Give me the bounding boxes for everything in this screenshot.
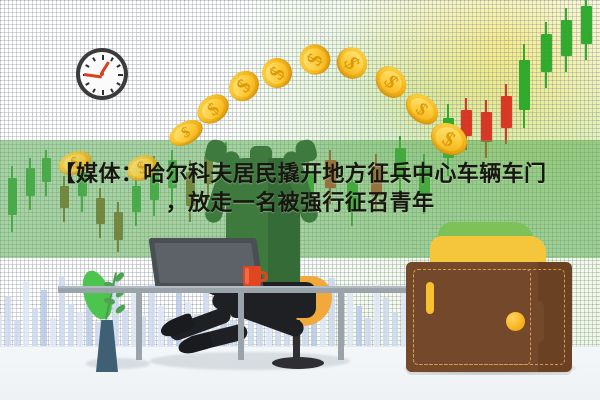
skyline-building	[32, 308, 38, 348]
skyline-building	[14, 320, 20, 348]
clock-tick	[92, 57, 95, 61]
leather-wallet	[406, 262, 572, 372]
laptop-screen-inner	[154, 243, 257, 283]
skyline-building	[365, 318, 371, 348]
skyline-building	[0, 314, 2, 348]
skyline-building	[383, 298, 389, 348]
skyline-building	[23, 282, 29, 348]
clock-tick	[118, 74, 123, 76]
headline-line-1: 【媒体：哈尔科夫居民撬开地方征兵中心车辆车门	[54, 162, 547, 187]
candlestick-body	[581, 6, 592, 44]
candlestick-body	[519, 60, 530, 110]
candlestick	[519, 44, 530, 128]
candlestick-body	[501, 96, 512, 128]
clock-tick	[92, 89, 95, 93]
candlestick-body	[541, 34, 552, 72]
skyline-building	[374, 284, 380, 348]
candlestick-body	[481, 112, 492, 142]
clock-tick	[102, 90, 104, 95]
clock-tick	[110, 57, 113, 61]
wallet-clasp-button	[506, 312, 525, 331]
clock-tick	[110, 88, 113, 92]
candlestick	[581, 0, 592, 60]
coffee-mug-highlight	[245, 268, 249, 284]
skyline-building	[392, 312, 398, 348]
candlestick	[501, 84, 512, 144]
skyline-building	[50, 318, 56, 348]
candlestick	[561, 8, 572, 72]
skyline-building	[5, 296, 11, 348]
clock-tick	[102, 55, 104, 60]
desk-leg-mid	[238, 292, 244, 360]
potted-plant	[78, 268, 136, 372]
skyline-building	[41, 290, 47, 348]
candlestick	[541, 22, 552, 88]
clock-tick	[117, 82, 121, 85]
candlestick-body	[561, 20, 572, 56]
skyline-building	[356, 306, 362, 348]
skyline-building	[149, 284, 155, 348]
thumbnail-canvas: $$$$$$$$$$$	[0, 0, 600, 400]
clock-tick	[85, 64, 89, 67]
skyline-building	[311, 322, 317, 348]
office-chair-base	[272, 357, 324, 369]
desk-leg-left	[136, 292, 142, 360]
headline-text: 【媒体：哈尔科夫居民撬开地方征兵中心车辆车门 ，放走一名被强行征召青年	[0, 160, 600, 219]
clock-center-pin	[100, 72, 104, 76]
clock-tick	[85, 82, 89, 85]
skyline-building	[347, 290, 353, 348]
skyline-building	[68, 304, 74, 348]
wallet-card	[426, 282, 434, 314]
clock-tick	[116, 64, 120, 67]
desk-leg-right	[338, 292, 344, 360]
headline-line-2: ，放走一名被强行征召青年	[16, 189, 584, 218]
wall-clock	[76, 48, 128, 100]
plant-vase	[96, 320, 118, 372]
plant-leaf	[114, 304, 127, 315]
